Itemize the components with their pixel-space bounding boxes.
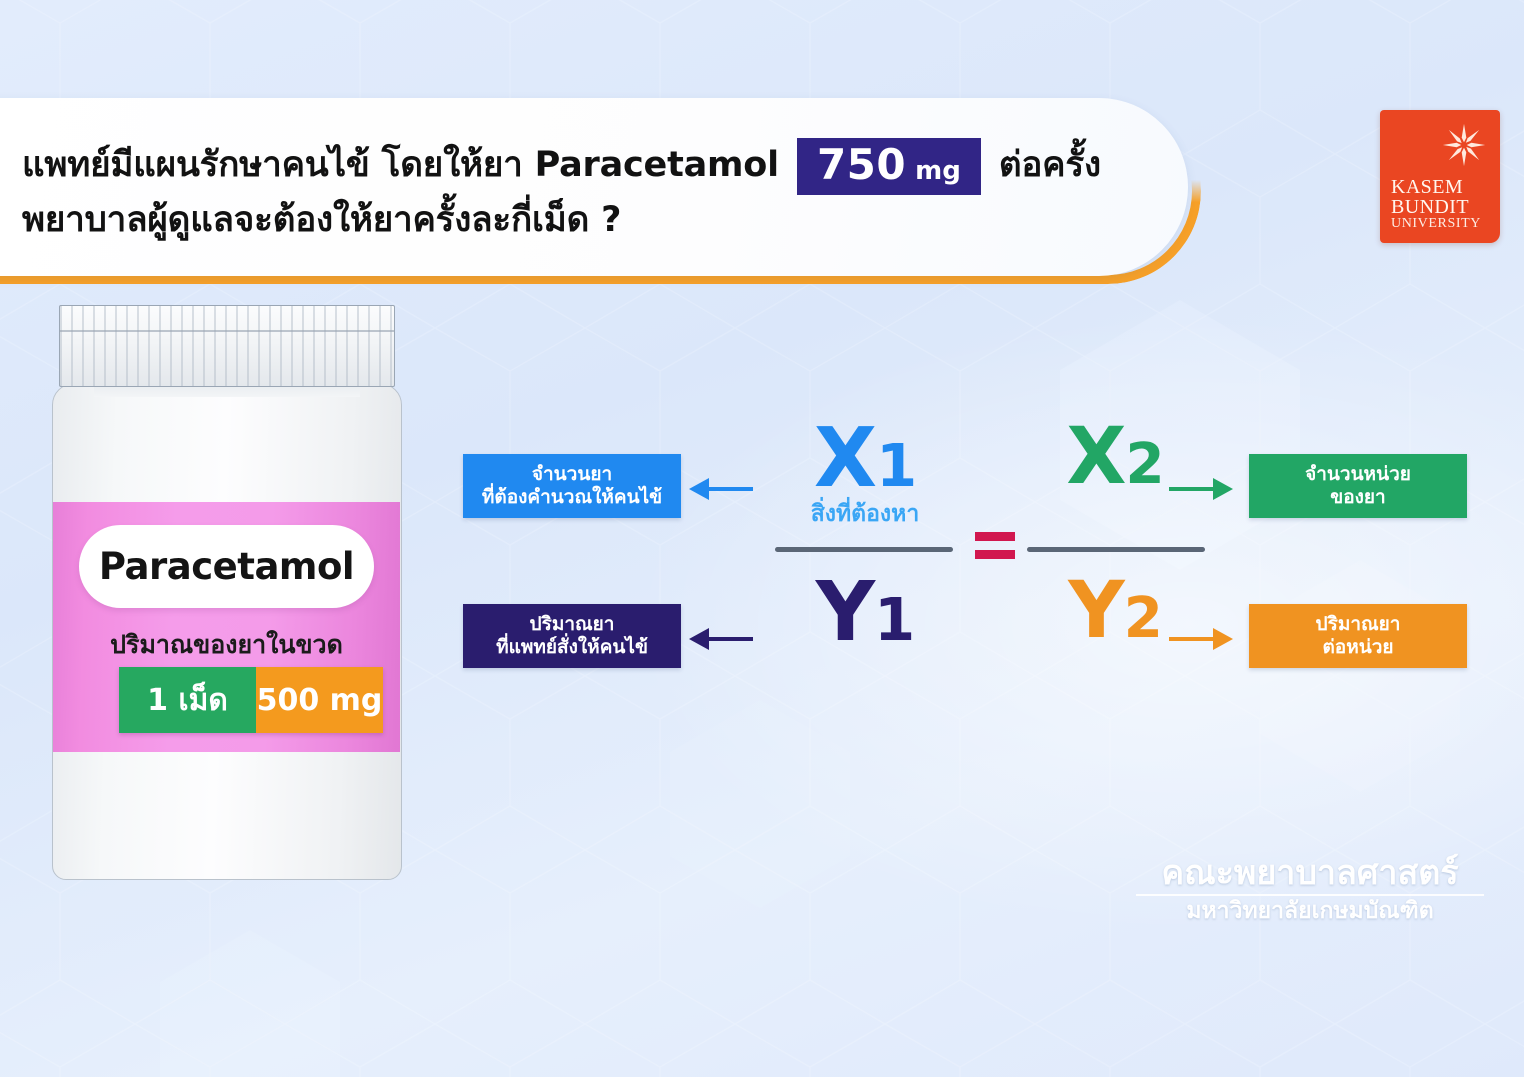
bottle-cap-line xyxy=(60,330,394,332)
footer-divider xyxy=(1136,894,1484,896)
term-x1-subtitle: สิ่งที่ต้องหา xyxy=(765,496,965,532)
tag-y2-line-2: ต่อหน่วย xyxy=(1255,636,1461,659)
bottle-label: Paracetamol ปริมาณของยาในขวด 1 เม็ด 500 … xyxy=(53,502,400,752)
arrow-left-y1-icon xyxy=(689,626,755,652)
question-line-2: พยาบาลผู้ดูแลจะต้องให้ยาครั้งละกี่เม็ด ? xyxy=(22,199,1172,243)
term-y2-index: 2 xyxy=(1124,586,1162,651)
question-text-block: แพทย์มีแผนรักษาคนไข้ โดยให้ยา Paracetamo… xyxy=(22,110,1172,270)
footer-faculty: คณะพยาบาลศาสตร์ xyxy=(1130,855,1490,892)
logo-line-2: BUNDIT xyxy=(1391,197,1492,217)
dose-badge: 750 mg xyxy=(797,138,981,195)
question-line-1: แพทย์มีแผนรักษาคนไข้ โดยให้ยา Paracetamo… xyxy=(22,138,1172,195)
term-y1-index: 1 xyxy=(874,585,914,654)
tag-y2: ปริมาณยา ต่อหน่วย xyxy=(1249,604,1467,668)
tag-y1-line-2: ที่แพทย์สั่งให้คนไข้ xyxy=(469,636,675,659)
dose-value: 750 xyxy=(817,144,906,186)
term-y2-letter: Y xyxy=(1068,566,1123,656)
equals-sign xyxy=(975,532,1015,568)
logo-line-3: UNIVERSITY xyxy=(1391,217,1492,231)
tag-x1-line-2: ที่ต้องคำนวณให้คนไข้ xyxy=(469,486,675,509)
drug-name-badge: Paracetamol xyxy=(79,525,374,608)
arrow-left-x1-icon xyxy=(689,476,755,502)
tag-x1-line-1: จำนวนยา xyxy=(469,463,675,486)
tag-x1: จำนวนยา ที่ต้องคำนวณให้คนไข้ xyxy=(463,454,681,518)
starburst-icon xyxy=(1441,122,1487,168)
tag-y1: ปริมาณยา ที่แพทย์สั่งให้คนไข้ xyxy=(463,604,681,668)
question-line-2-text: พยาบาลผู้ดูแลจะต้องให้ยาครั้งละกี่เม็ด ? xyxy=(22,199,621,243)
fraction-bar-left xyxy=(775,547,953,552)
term-x1-index: 1 xyxy=(876,431,916,500)
term-x2-index: 2 xyxy=(1126,432,1164,497)
tag-x2-line-2: ของยา xyxy=(1255,486,1461,509)
equals-bar-top xyxy=(975,532,1015,541)
term-x2-symbol: X2 xyxy=(1015,418,1215,496)
bottle-cap xyxy=(59,305,395,387)
university-logo-wordmark: KASEM BUNDIT UNIVERSITY xyxy=(1391,177,1492,231)
bottle-unit-strength: 500 mg xyxy=(256,667,383,733)
proportion-formula: จำนวนยา ที่ต้องคำนวณให้คนไข้ ปริมาณยา ที… xyxy=(455,432,1475,694)
dose-unit: mg xyxy=(915,158,961,184)
term-y1-letter: Y xyxy=(816,565,874,660)
question-line-1-suffix: ต่อครั้ง xyxy=(999,144,1101,188)
term-x1-symbol: X1 xyxy=(765,418,965,500)
bottle-label-caption: ปริมาณของยาในขวด xyxy=(53,625,400,665)
tag-y2-line-1: ปริมาณยา xyxy=(1255,613,1461,636)
university-logo: KASEM BUNDIT UNIVERSITY xyxy=(1380,110,1500,243)
footer-university: มหาวิทยาลัยเกษมบัณฑิต xyxy=(1130,899,1490,924)
term-y1-symbol: Y1 xyxy=(765,572,965,654)
term-y2-symbol: Y2 xyxy=(1015,572,1215,650)
term-x1-letter: X xyxy=(814,411,876,506)
tag-x2: จำนวนหน่วย ของยา xyxy=(1249,454,1467,518)
bottle-unit-count: 1 เม็ด xyxy=(119,667,256,733)
logo-line-1: KASEM xyxy=(1391,177,1492,197)
term-x1: X1 สิ่งที่ต้องหา xyxy=(765,418,965,532)
bottle-unit-strip: 1 เม็ด 500 mg xyxy=(119,667,383,733)
footer: คณะพยาบาลศาสตร์ มหาวิทยาลัยเกษมบัณฑิต xyxy=(1130,855,1490,925)
term-y1: Y1 xyxy=(765,572,965,654)
drug-name: Paracetamol xyxy=(99,545,354,588)
tag-y1-line-1: ปริมาณยา xyxy=(469,613,675,636)
tag-x2-line-1: จำนวนหน่วย xyxy=(1255,463,1461,486)
term-x2-letter: X xyxy=(1066,412,1125,502)
fraction-bar-right xyxy=(1027,547,1205,552)
term-y2: Y2 xyxy=(1015,572,1215,650)
question-line-1-prefix: แพทย์มีแผนรักษาคนไข้ โดยให้ยา Paracetamo… xyxy=(22,144,779,188)
term-x2: X2 xyxy=(1015,418,1215,496)
equals-bar-bottom xyxy=(975,550,1015,559)
paracetamol-bottle: Paracetamol ปริมาณของยาในขวด 1 เม็ด 500 … xyxy=(52,305,402,880)
